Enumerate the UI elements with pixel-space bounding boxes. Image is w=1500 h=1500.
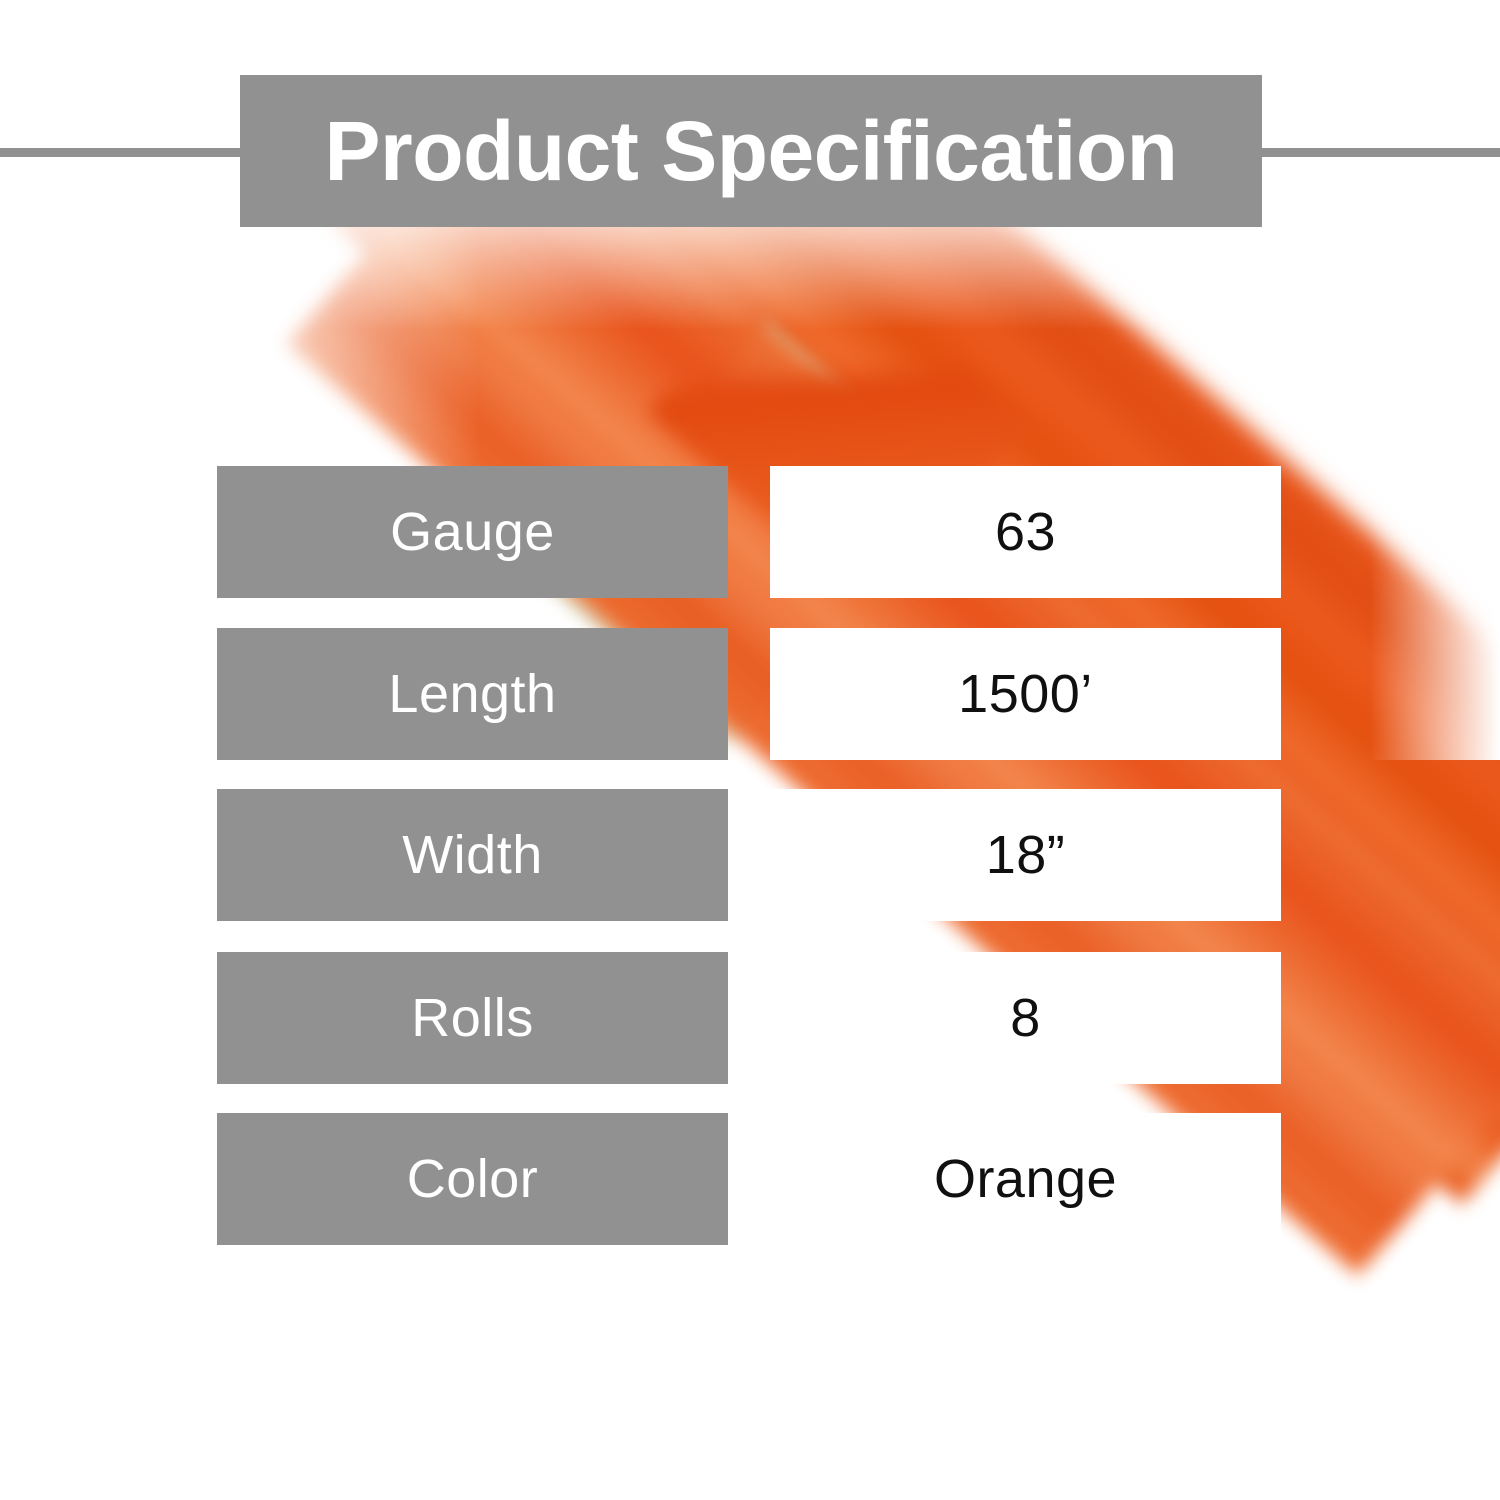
spec-value-color: Orange (770, 1113, 1281, 1245)
spec-label-rolls: Rolls (217, 952, 728, 1084)
spec-value-length: 1500’ (770, 628, 1281, 760)
spec-label-length: Length (217, 628, 728, 760)
spec-value-rolls: 8 (770, 952, 1281, 1084)
spec-value-width: 18” (770, 789, 1281, 921)
specification-table: Gauge 63 Length 1500’ Width 18” Rolls 8 … (0, 0, 1500, 1500)
spec-label-color: Color (217, 1113, 728, 1245)
product-specification-card: Product Specification Gauge 63 Length 15… (0, 0, 1500, 1500)
spec-label-gauge: Gauge (217, 466, 728, 598)
spec-value-gauge: 63 (770, 466, 1281, 598)
spec-label-width: Width (217, 789, 728, 921)
